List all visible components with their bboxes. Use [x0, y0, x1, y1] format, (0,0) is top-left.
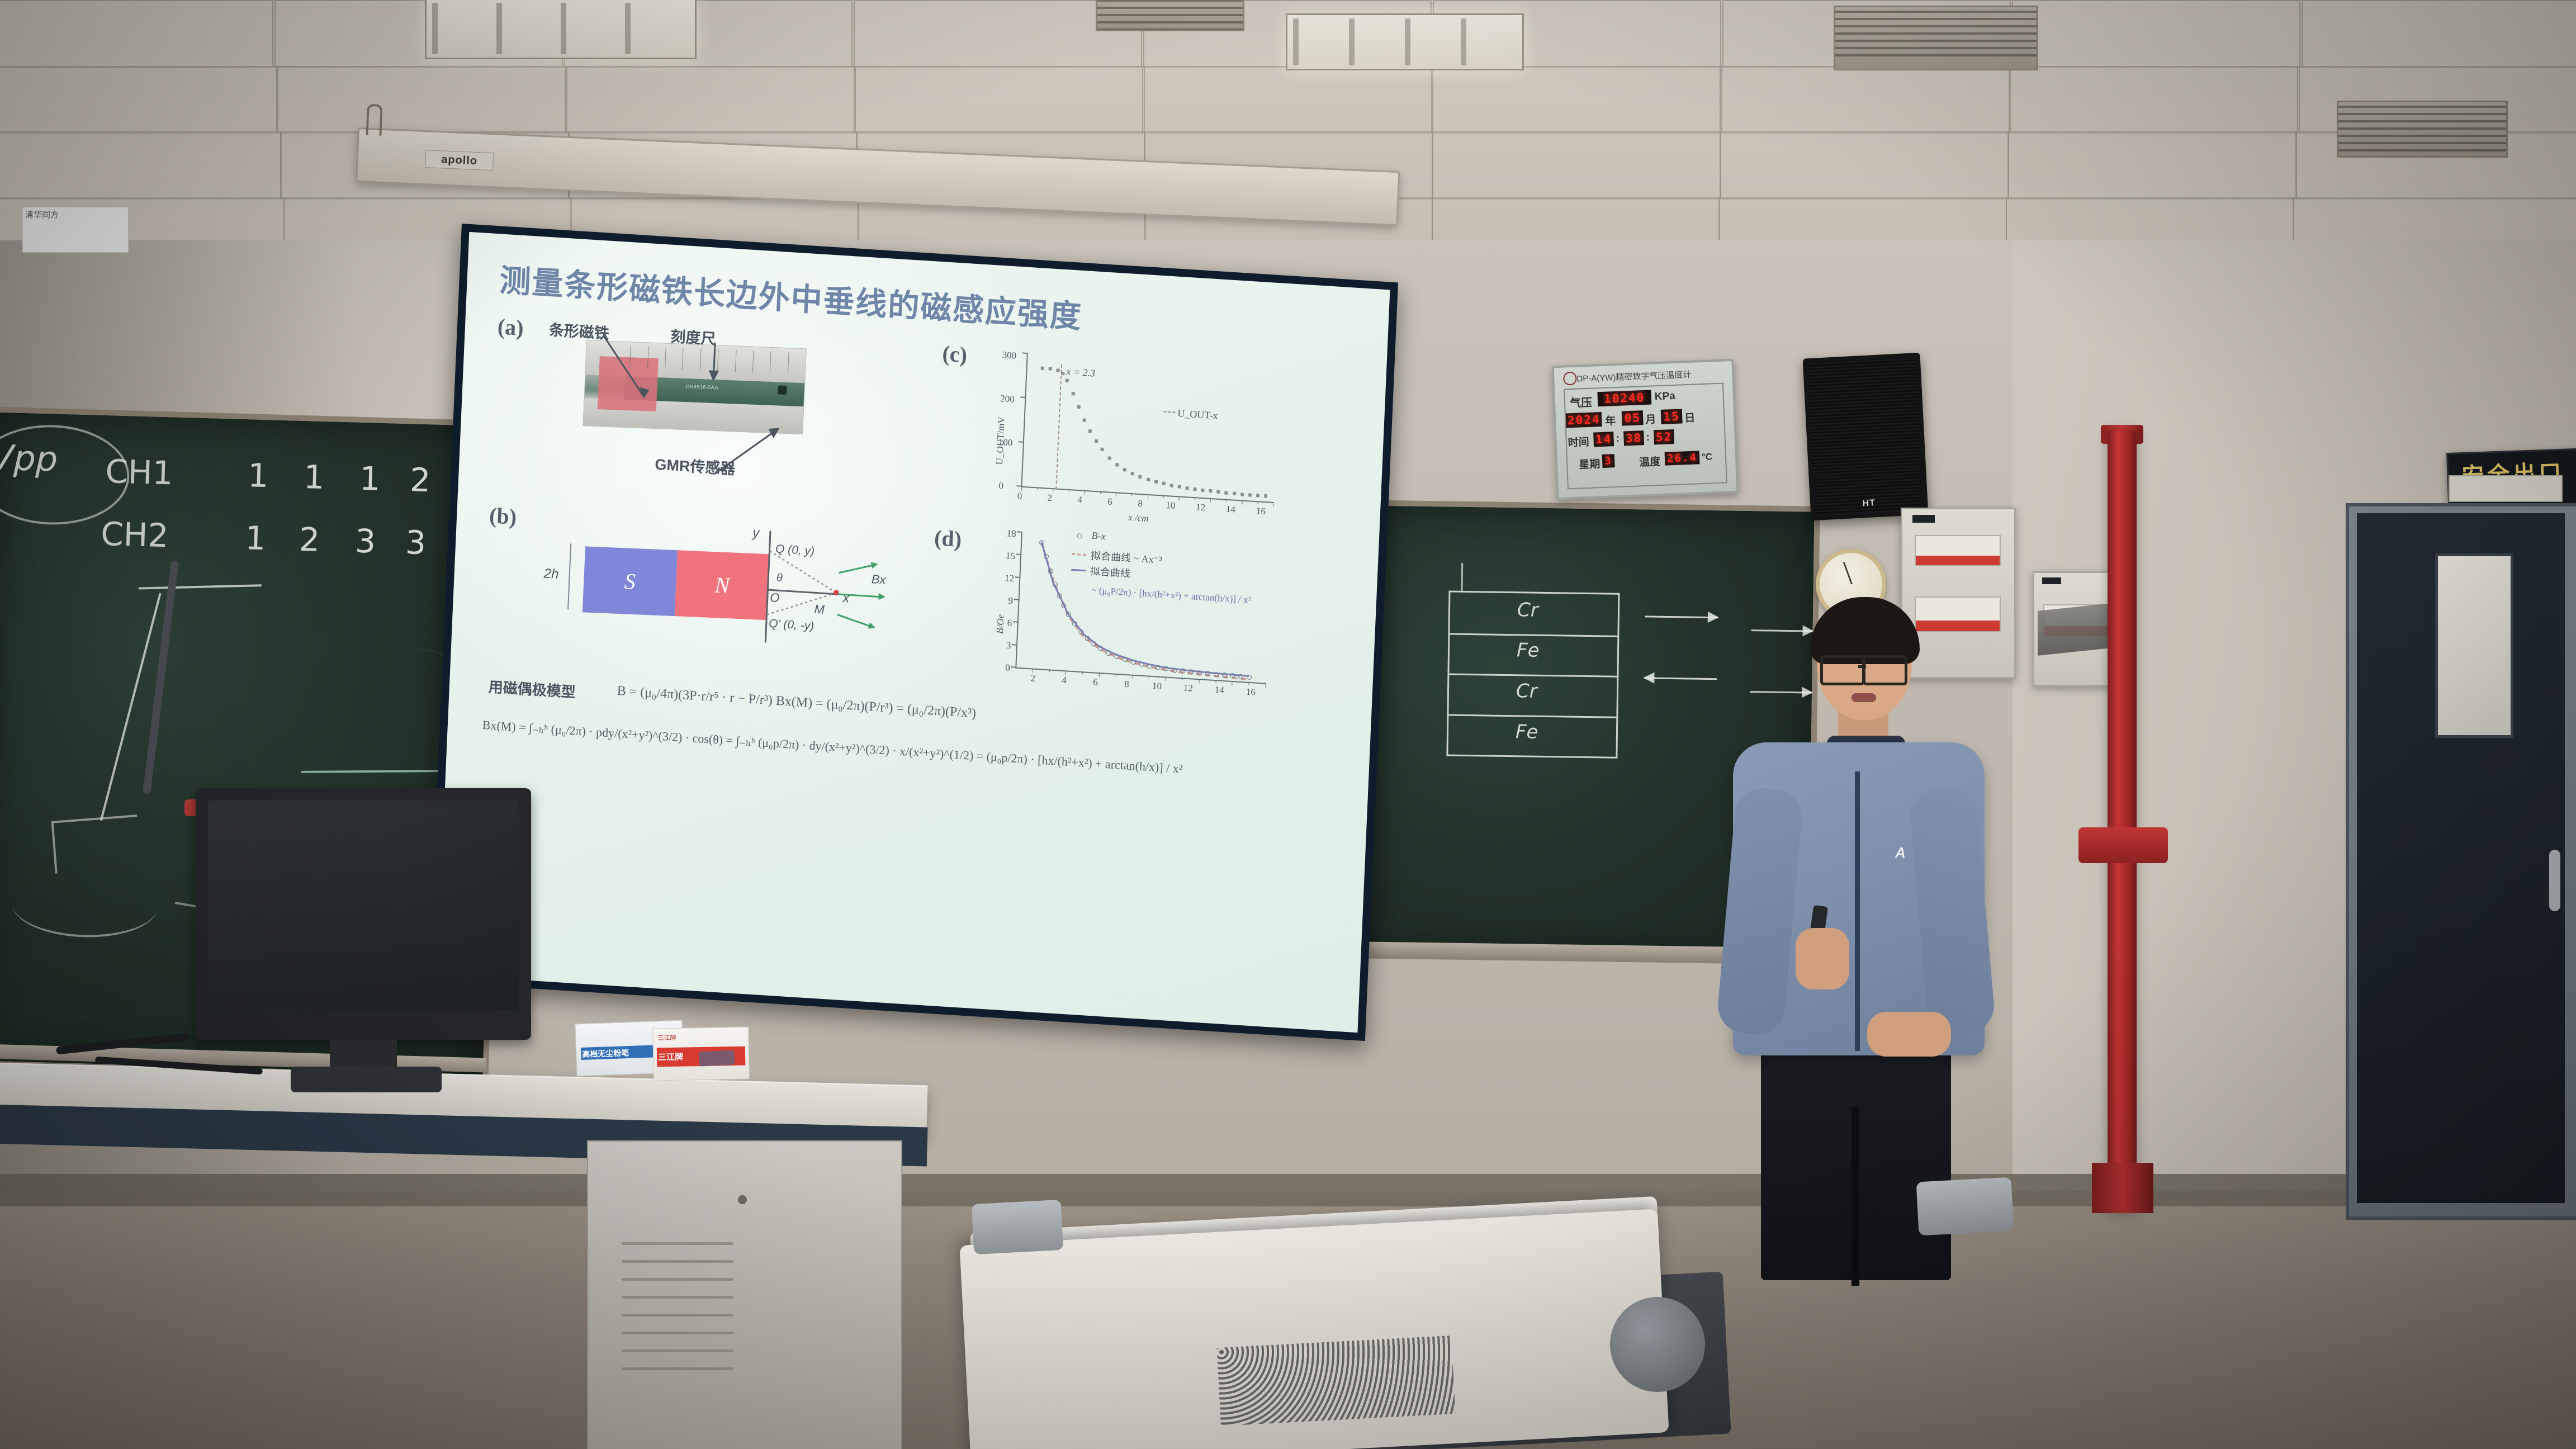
gauge-needle [1843, 562, 1853, 584]
chart-d-xtick [1215, 680, 1216, 683]
ceiling-tile [1721, 66, 2010, 134]
chalk-layer-3: Cr [1516, 680, 1537, 703]
chart-c-annotation: x = 2.3 [1066, 366, 1095, 379]
barometer-pressure-unit: KPa [1654, 390, 1675, 403]
chart-d-point [1130, 660, 1135, 665]
chalk-ch1-v3: 1 [359, 460, 381, 498]
chalk-stroke-horizontal [139, 584, 262, 589]
chalk-ch2-v2: 2 [299, 520, 320, 559]
chart-c-point [1209, 489, 1213, 493]
chart-c-point [1100, 448, 1104, 451]
chalk-stroke-diagonal [100, 593, 162, 821]
chart-c-point [1233, 491, 1236, 495]
chart-d-xtick [1082, 671, 1083, 674]
ceiling-tile [2012, 0, 2300, 68]
chart-d-point [1197, 670, 1202, 676]
chart-d-xtick [1182, 678, 1183, 680]
ceiling-tile [0, 0, 273, 68]
speaker-grille [1807, 357, 1924, 516]
chart-d-point [1114, 654, 1119, 660]
panel-a-sensor-arrow [699, 415, 825, 490]
desk-cabinet [587, 1140, 902, 1449]
chalk-arrow-right-1 [1645, 615, 1718, 618]
chart-c-point [1049, 367, 1052, 371]
chart-c-point [1177, 485, 1181, 489]
chart-c-xtick [1131, 493, 1132, 496]
door-top-panel [2449, 475, 2563, 502]
chart-c-point [1077, 405, 1080, 409]
chalk-layer-1: Cr [1517, 599, 1538, 622]
foreground-clamp-right [1916, 1177, 2014, 1236]
chart-c-point [1162, 482, 1165, 485]
presenter-hair [1810, 597, 1920, 664]
chart-c-xtick-8: 8 [1138, 498, 1143, 510]
chart-d-xtick [1116, 674, 1116, 676]
chart-c-point [1041, 367, 1044, 370]
barometer-logo-icon [1563, 372, 1577, 386]
fire-standpipe [2108, 430, 2137, 1213]
chart-c-xtick [1021, 486, 1022, 491]
chart-c-xtick-12: 12 [1196, 501, 1206, 513]
chart-d-point [1106, 650, 1111, 656]
barometer-second-value: 52 [1654, 429, 1674, 444]
chart-d-xtick [1149, 676, 1149, 679]
glasses-right-lens-icon [1863, 655, 1907, 685]
barometer-temp-value: 26.4 [1665, 451, 1700, 465]
ceiling-tile [0, 66, 277, 134]
panel-label-plate-1 [1912, 515, 1935, 523]
chart-c-point [1131, 472, 1134, 475]
chart-c-ytick-200: 200 [1000, 393, 1015, 405]
barometer-pressure-label: 气压 [1569, 394, 1592, 411]
chart-c-xtick [1053, 488, 1053, 493]
thickness-arrow-line [567, 543, 571, 609]
chart-c-point [1185, 486, 1188, 490]
monitor-screen[interactable] [208, 801, 519, 1011]
chart-c-point [1139, 475, 1142, 479]
chart-c-xtick-10: 10 [1166, 500, 1176, 512]
barometer-temp-label: 温度 [1639, 453, 1661, 469]
chalk-tick-mark [1461, 563, 1464, 591]
chart-c-point [1115, 463, 1119, 466]
chart-d-point [1098, 645, 1103, 651]
chart-d-point [1214, 671, 1219, 677]
chart-c-xtick [1195, 497, 1195, 500]
chart-c-xtick [1085, 490, 1085, 495]
ceiling-tile [277, 66, 566, 134]
ceiling-tile [2008, 131, 2296, 200]
chart-c-ylabel: U_OUT/mV [994, 416, 1007, 465]
presenter-left-hand [1796, 928, 1849, 989]
chart-c-xlabel: x /cm [1128, 512, 1149, 524]
chart-d-point [1172, 667, 1177, 673]
glasses-left-lens-icon [1820, 655, 1865, 685]
chart-c-xtick-6: 6 [1107, 496, 1112, 508]
chart-c-xtick-0: 0 [1017, 490, 1022, 502]
presentation-slide: 测量条形磁铁长边外中垂线的磁感应强度 (a) 条形磁铁 刻度尺 DH4516-5… [437, 232, 1390, 1033]
chalk-ch2-v1: 1 [244, 519, 266, 557]
classroom-photo: Vpp CH1 1 1 1 2 CH2 1 2 3 3 Cr Fe Cr Fe [0, 0, 2576, 1449]
chalk-layer-4: Fe [1516, 721, 1538, 744]
label-gmr-sensor: GMR传感器 [655, 452, 736, 479]
barometer-weekday-value: 3 [1602, 454, 1615, 468]
label-y-axis: y [752, 525, 760, 542]
chart-c-ytick [1019, 441, 1024, 443]
chart-c-point [1193, 487, 1196, 491]
panel-b-rays [764, 547, 856, 626]
barometer-weekday-label: 星期 [1579, 456, 1600, 471]
ceiling-tile [1720, 131, 2009, 200]
ceiling-tile [1432, 66, 1721, 134]
glasses-bridge-icon [1858, 665, 1866, 668]
ceiling-air-vent [2337, 101, 2508, 158]
apollo-brand-badge: apollo [425, 150, 494, 171]
chart-c-point [1147, 478, 1150, 481]
chart-c-ytick-300: 300 [1002, 349, 1016, 362]
electrical-panel-small[interactable] [2033, 571, 2120, 686]
chart-c-legend-entry: U_OUT-x [1177, 408, 1218, 422]
chart-c-xtick-4: 4 [1077, 494, 1082, 506]
label-dipole-model: 用磁偶极模型 [488, 676, 576, 702]
chart-c-xtick-14: 14 [1226, 504, 1236, 515]
wall-speaker: HT [1803, 353, 1929, 521]
ceiling-tile [855, 66, 1143, 134]
chart-c-xtick [1226, 499, 1227, 502]
chart-c-xtick [1257, 501, 1258, 504]
chart-d-point [1221, 673, 1227, 678]
barometer-year-label: 年 [1605, 413, 1616, 428]
chart-d-point [1039, 540, 1044, 546]
chart-d-point [1139, 661, 1144, 667]
chart-c-ytick [1022, 352, 1027, 354]
chalk-arrow-left-1 [1644, 677, 1717, 680]
speaker-brand-label: HT [1862, 498, 1876, 509]
chart-c-xtick [1147, 494, 1148, 499]
barometer-day-label: 日 [1684, 410, 1696, 425]
ceiling-tile [2302, 0, 2576, 68]
door-window [2435, 553, 2513, 738]
barometer-year-value: 2024 [1566, 412, 1602, 428]
chart-c-point [1061, 372, 1064, 375]
chalk-ch1-v2: 1 [303, 458, 325, 496]
chalk-ch1-v1: 1 [247, 456, 269, 495]
chart-d-point [1052, 581, 1057, 587]
fire-pipe-base [2092, 1163, 2153, 1213]
label-north-pole: N [675, 570, 769, 600]
chart-c-data-points [996, 348, 1291, 366]
monitor-brand-label: 清华同方 [22, 207, 129, 253]
panel-c-tag: (c) [942, 340, 968, 368]
ceiling-tile [1144, 66, 1432, 134]
chart-c-legend-swatch [1163, 411, 1175, 413]
desktop-monitor[interactable] [196, 788, 531, 1079]
ceiling-tile [2010, 66, 2298, 134]
chart-c-xtick [1242, 500, 1242, 505]
chart-c-xtick [1100, 491, 1101, 494]
barometer-hour-value: 14 [1593, 432, 1614, 447]
breaker-row-top[interactable] [1915, 535, 2001, 566]
chalk-ch2-v4: 3 [405, 523, 427, 562]
chart-d-curves [981, 527, 1284, 713]
ceiling-light-fixture [1286, 13, 1524, 70]
floor-skirting [0, 1174, 2576, 1206]
barometer-minute-value: 38 [1623, 430, 1644, 446]
label-south-pole: S [583, 566, 676, 596]
chart-c-xtick [1210, 498, 1211, 503]
chalk-ch1-v4: 2 [409, 461, 431, 499]
presenter-leg-gap [1851, 1107, 1859, 1286]
foreground-case-vent [1217, 1336, 1456, 1426]
chart-c-xtick [1116, 492, 1116, 496]
chart-c-point [1154, 480, 1158, 484]
barometer-pressure-value: 10240 [1597, 390, 1651, 407]
chart-c-ytick [1020, 397, 1025, 399]
chart-c-point [1248, 493, 1252, 496]
chart-c-point [1264, 494, 1267, 498]
barometer-month-value: 05 [1622, 410, 1644, 425]
chart-c-annotation-line [1055, 364, 1062, 490]
chart-c-xtick [1273, 502, 1273, 506]
barometer-display-area: 气压 10240 KPa 2024 年 05 月 15 日 时间 14 : 38… [1564, 383, 1727, 490]
ceiling-tile [0, 131, 281, 200]
chalk-box-blue-label: 高档无尘粉笔 [582, 1047, 629, 1060]
monitor-base [291, 1067, 442, 1092]
chart-d-point [1048, 569, 1053, 574]
chart-c-point [1217, 490, 1220, 494]
chart-d-xtick [1249, 682, 1249, 685]
chart-d-point [1188, 669, 1194, 675]
chart-c-xtick [1163, 495, 1163, 498]
barometer-day-value: 15 [1661, 409, 1683, 424]
formula-dipole: B = (μ₀/4π)(3P·r/r⁵ · r − P/r³) Bx(M) = … [617, 684, 976, 721]
chalk-multilayer-stack: Cr Fe Cr Fe [1446, 591, 1620, 759]
chart-c-xtick-16: 16 [1256, 505, 1266, 517]
chart-d-point [1057, 593, 1062, 599]
label-2h: 2h [543, 566, 559, 583]
chart-c-y-axis [1021, 353, 1027, 486]
label-bx: Bx [871, 572, 886, 588]
projection-screen: 测量条形磁铁长边外中垂线的磁感应强度 (a) 条形磁铁 刻度尺 DH4516-5… [429, 224, 1398, 1041]
panel-label-plate-2 [2042, 577, 2061, 584]
chart-c-xtick [1037, 487, 1038, 490]
chart-c-point [1169, 484, 1173, 487]
chart-c-point [1123, 468, 1126, 471]
chart-d-point [1123, 657, 1128, 662]
ceiling-air-vent [1096, 0, 1244, 31]
chalk-box-brand: 三江牌 [657, 1033, 676, 1043]
presenter-jacket-logo: A [1895, 844, 1919, 859]
panel-d-tag: (d) [934, 524, 962, 552]
chart-c-point [1256, 494, 1259, 498]
chart-c-point [1088, 430, 1092, 433]
presenter-right-hand [1867, 1012, 1951, 1057]
barometer-model-text: DP-A(YW)精密数字气压温度计 [1576, 368, 1692, 385]
chalk-row-ch2-label: CH2 [100, 515, 169, 555]
chart-c-xtick-2: 2 [1047, 493, 1052, 504]
digital-barometer-clock: DP-A(YW)精密数字气压温度计 气压 10240 KPa 2024 年 05… [1552, 359, 1739, 500]
chart-c-ytick [1016, 485, 1021, 487]
chart-c-point [1095, 439, 1098, 443]
monitor-bezel [196, 788, 531, 1040]
eraser[interactable] [698, 1050, 735, 1066]
chart-c-xtick [1069, 489, 1069, 492]
gmr-sensor-chip [778, 385, 787, 395]
chalk-layer-2: Fe [1517, 639, 1540, 662]
presenter-mouth [1851, 693, 1876, 702]
barometer-month-label: 月 [1645, 411, 1656, 427]
chart-c-point [1225, 491, 1228, 494]
chart-panel-d: 0 3 6 9 12 15 18 B/Oe 2 4 6 8 10 12 14 1… [981, 527, 1284, 713]
ceiling-tile [566, 66, 855, 134]
chalk-row-ch1-label: CH1 [105, 452, 174, 492]
door-handle[interactable] [2549, 850, 2560, 911]
chart-c-point [1108, 456, 1111, 460]
chart-c-point [1083, 418, 1086, 422]
cabinet-lock[interactable] [738, 1195, 747, 1204]
panel-a-tag: (a) [497, 313, 524, 341]
chart-c-point [1240, 493, 1244, 496]
formula-integral: Bx(M) = ∫₋ₕʰ (μ₀/2π) · pdy/(x²+y²)^(3/2)… [482, 718, 1183, 776]
chalk-sketch-left [51, 815, 141, 874]
magnet-diagram: S N [583, 546, 770, 620]
chart-c-point [1071, 392, 1074, 395]
presenter-jacket-zipper [1855, 771, 1860, 1051]
ceiling-air-vent [1834, 6, 2038, 70]
foreground-clamp-left [972, 1200, 1063, 1254]
chalk-sketch-wave [11, 872, 158, 939]
chart-panel-c: 0 100 200 300 U_OUT/mV x /cm 0 2 4 6 8 1… [989, 348, 1292, 528]
chart-c-xtick [1178, 496, 1179, 500]
barometer-time-label: 时间 [1568, 434, 1589, 449]
panel-b-tag: (b) [489, 502, 517, 530]
chart-c-point [1066, 379, 1069, 382]
fire-pipe-valve[interactable] [2078, 827, 2168, 863]
chart-c-ytick-0: 0 [998, 480, 1003, 492]
barometer-temp-unit: °C [1702, 451, 1713, 463]
presenter: A [1711, 604, 2001, 1230]
ceiling-tile [1432, 131, 1721, 200]
barometer-colon-1: : [1616, 433, 1620, 445]
chart-c-point [1201, 488, 1205, 491]
chalk-box-red-label: 三江牌 [658, 1051, 683, 1063]
ceiling-light-fixture [425, 0, 697, 59]
barometer-colon-2: : [1646, 432, 1650, 444]
chart-c-point [1057, 368, 1060, 372]
chalk-ch2-v3: 3 [354, 522, 376, 561]
chart-d-point [1085, 636, 1090, 641]
housing-hook [366, 104, 382, 136]
